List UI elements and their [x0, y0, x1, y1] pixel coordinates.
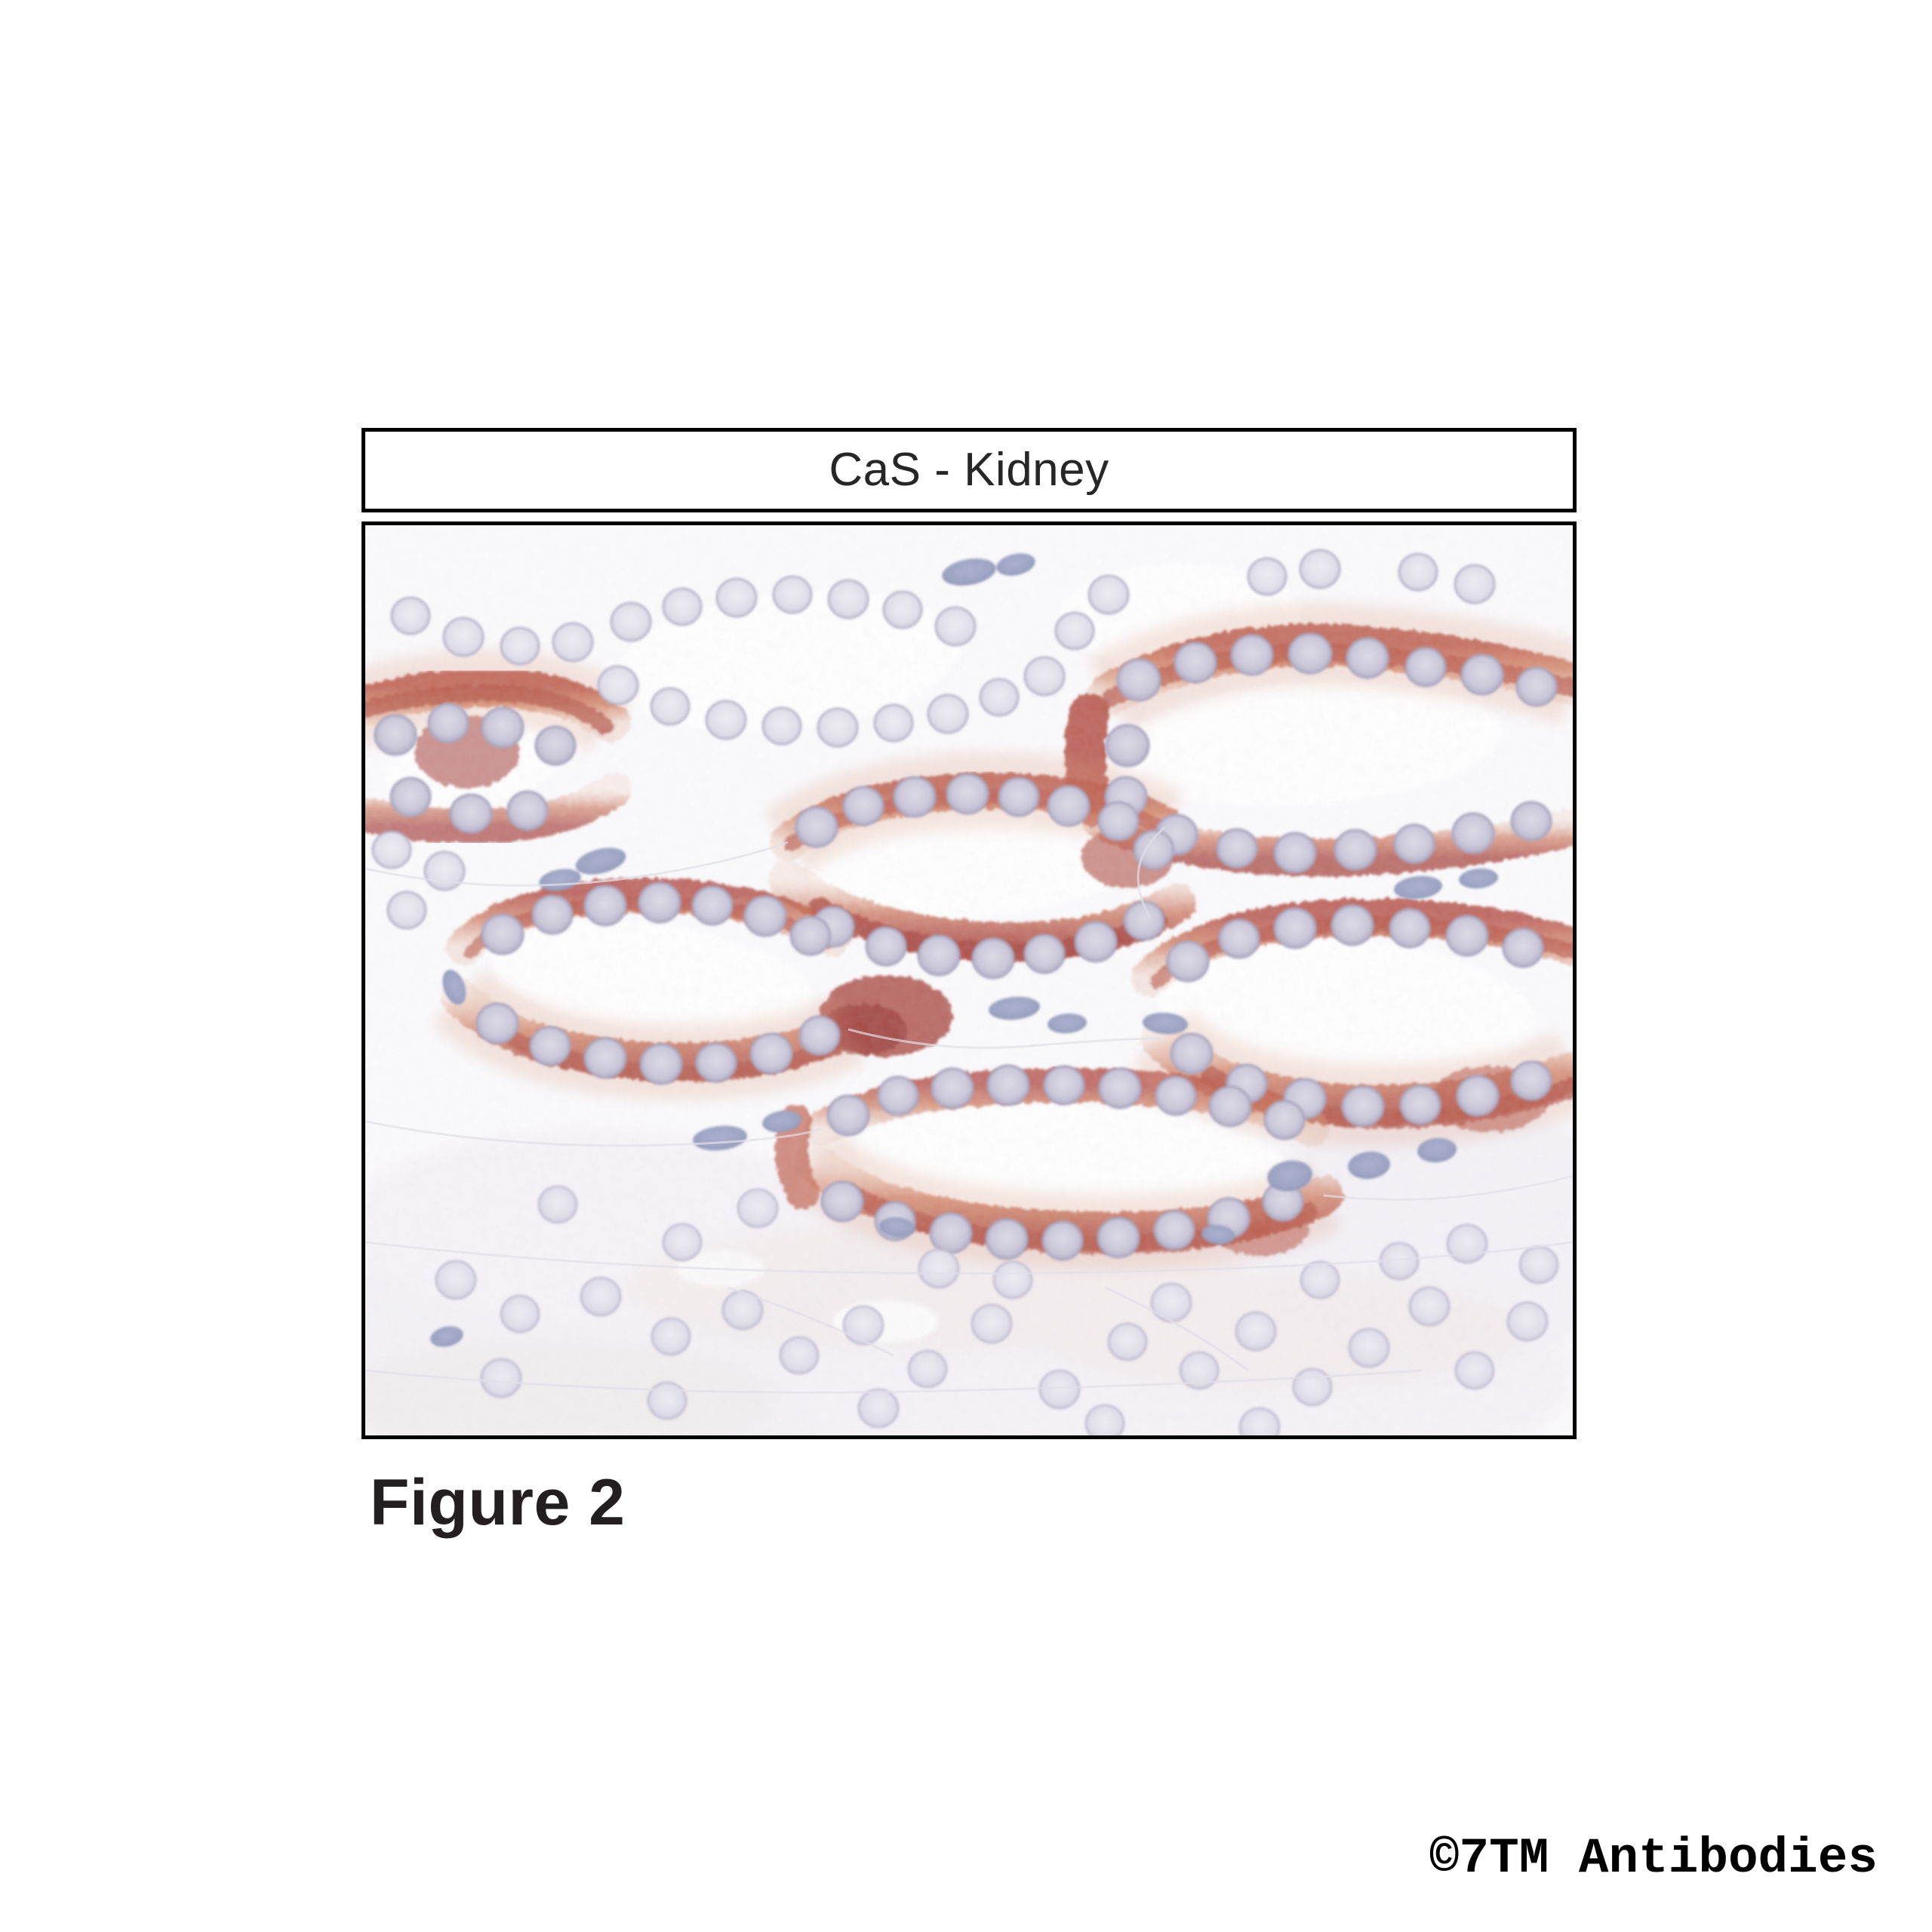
micrograph-image: [365, 525, 1573, 1435]
brightness-wash: [365, 525, 1573, 1435]
copyright-watermark: ©7TM Antibodies: [1429, 1834, 1878, 1884]
figure-block: CaS - Kidney: [361, 428, 1577, 1439]
panel-title-bar: CaS - Kidney: [361, 428, 1577, 512]
micrograph-panel: [361, 521, 1577, 1439]
figure-caption: Figure 2: [370, 1470, 626, 1535]
panel-title: CaS - Kidney: [829, 447, 1109, 494]
